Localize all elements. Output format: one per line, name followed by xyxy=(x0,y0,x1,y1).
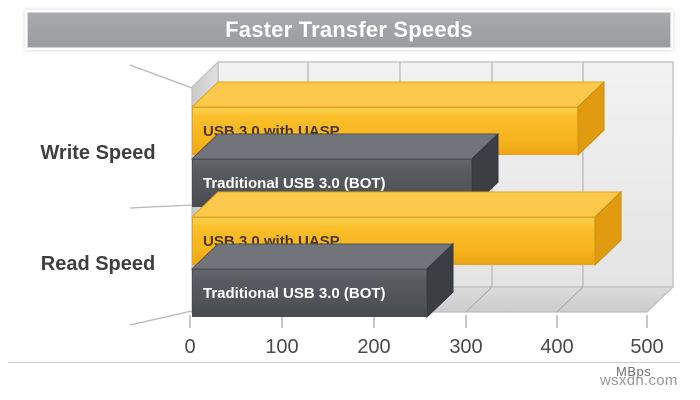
bar-write-bot-face: Traditional USB 3.0 (BOT) xyxy=(192,159,472,207)
category-axis-ticks xyxy=(130,65,192,325)
bar-label-write-bot: Traditional USB 3.0 (BOT) xyxy=(193,176,386,191)
bar-read-bot-face: Traditional USB 3.0 (BOT) xyxy=(192,269,427,317)
page-title: Faster Transfer Speeds xyxy=(225,19,473,41)
bar-read-uasp[interactable]: USB 3.0 with UASP xyxy=(192,217,595,265)
x-tick-100: 100 xyxy=(252,336,312,359)
bar-write-uasp[interactable]: USB 3.0 with UASP xyxy=(192,107,578,155)
x-tick-300: 300 xyxy=(436,336,496,359)
bar-write-bot[interactable]: Traditional USB 3.0 (BOT) xyxy=(192,159,472,207)
x-tick-400: 400 xyxy=(527,336,587,359)
x-tick-0: 0 xyxy=(160,336,220,359)
bar-label-read-bot: Traditional USB 3.0 (BOT) xyxy=(193,286,386,301)
axis-baseline xyxy=(8,362,680,363)
chart-screenshot: Faster Transfer Speeds xyxy=(0,0,700,400)
category-label-write-speed: Write Speed xyxy=(14,142,182,165)
bar-label-write-uasp: USB 3.0 with UASP xyxy=(193,124,340,139)
bar-read-uasp-face: USB 3.0 with UASP xyxy=(192,217,595,265)
chart-title-banner: Faster Transfer Speeds xyxy=(27,12,671,48)
category-label-read-speed: Read Speed xyxy=(14,253,182,276)
x-tick-200: 200 xyxy=(344,336,404,359)
bar-label-read-uasp: USB 3.0 with UASP xyxy=(193,234,340,249)
watermark-text: wsxdn.com xyxy=(600,372,678,389)
bar-write-uasp-face: USB 3.0 with UASP xyxy=(192,107,578,155)
bar-read-bot[interactable]: Traditional USB 3.0 (BOT) xyxy=(192,269,427,317)
x-tick-500: 500 xyxy=(617,336,677,359)
